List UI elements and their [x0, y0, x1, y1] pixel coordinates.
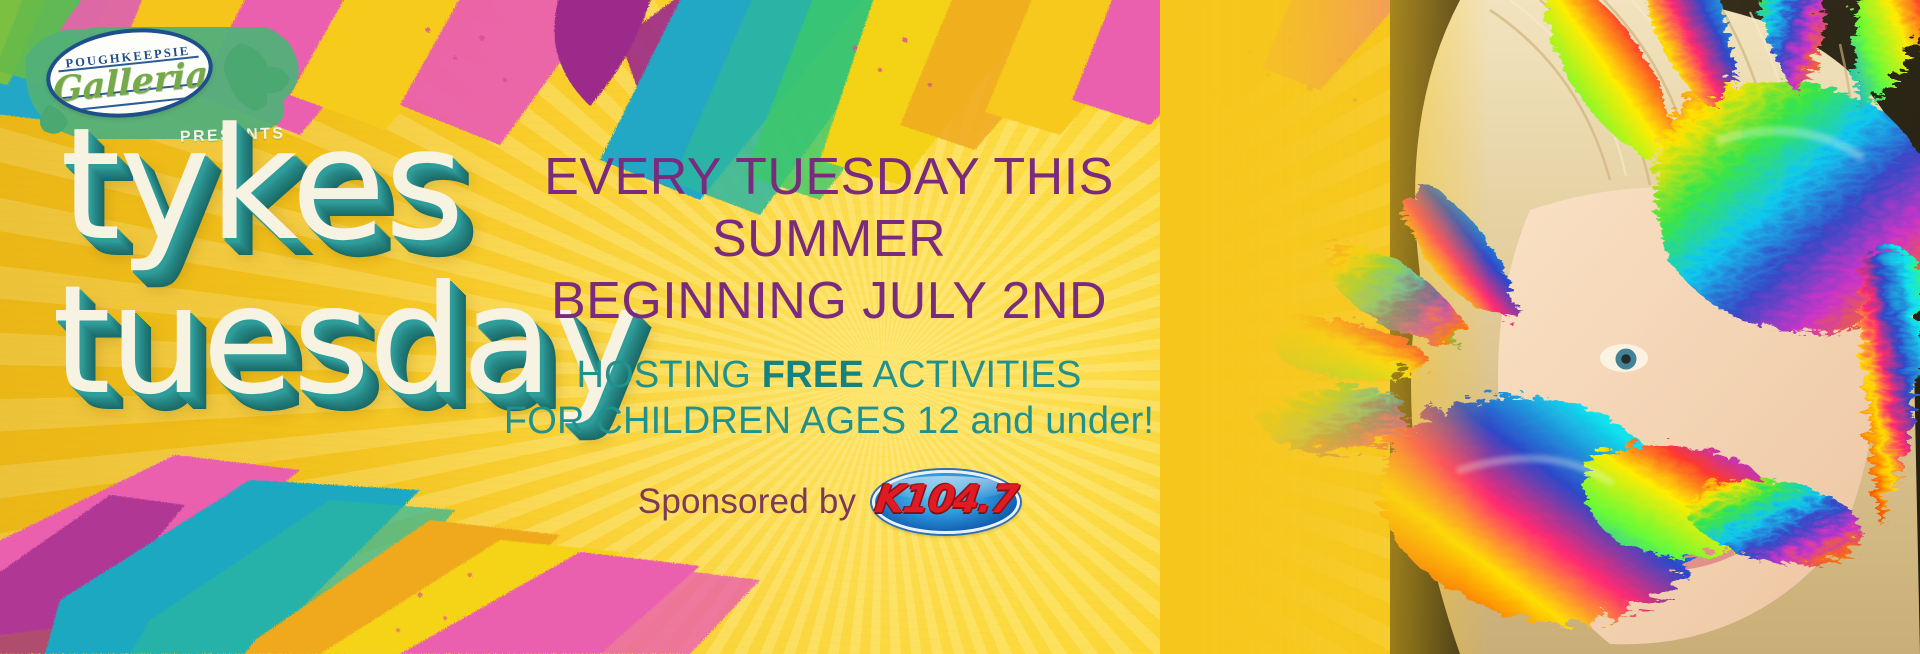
subheadline-pre: HOSTING [576, 354, 761, 396]
headline-line-2: BEGINNING JULY 2ND [484, 270, 1174, 332]
free-emphasis: FREE [762, 354, 864, 396]
subheadline-post: ACTIVITIES [864, 354, 1082, 396]
k104-station-text: K104.7 [868, 467, 1025, 531]
child-with-painted-hands-photo [1160, 0, 1920, 654]
subheadline-line-2: FOR CHILDREN AGES 12 and under! [484, 398, 1174, 444]
k104-logo[interactable]: K104.7 [872, 470, 1020, 534]
headline: EVERY TUESDAY THIS SUMMER BEGINNING JULY… [484, 146, 1174, 332]
sponsor-row: Sponsored by K104.7 [484, 470, 1174, 534]
sponsored-by-label: Sponsored by [638, 482, 856, 522]
promo-copy-block: EVERY TUESDAY THIS SUMMER BEGINNING JULY… [484, 146, 1174, 534]
subheadline-line-1: HOSTING FREE ACTIVITIES [484, 352, 1174, 398]
subheadline: HOSTING FREE ACTIVITIES FOR CHILDREN AGE… [484, 352, 1174, 444]
headline-line-1: EVERY TUESDAY THIS SUMMER [484, 146, 1174, 270]
tykes-tuesday-banner: POUGHKEEPSIE Galleria PRESENTS tykes tue… [0, 0, 1920, 654]
